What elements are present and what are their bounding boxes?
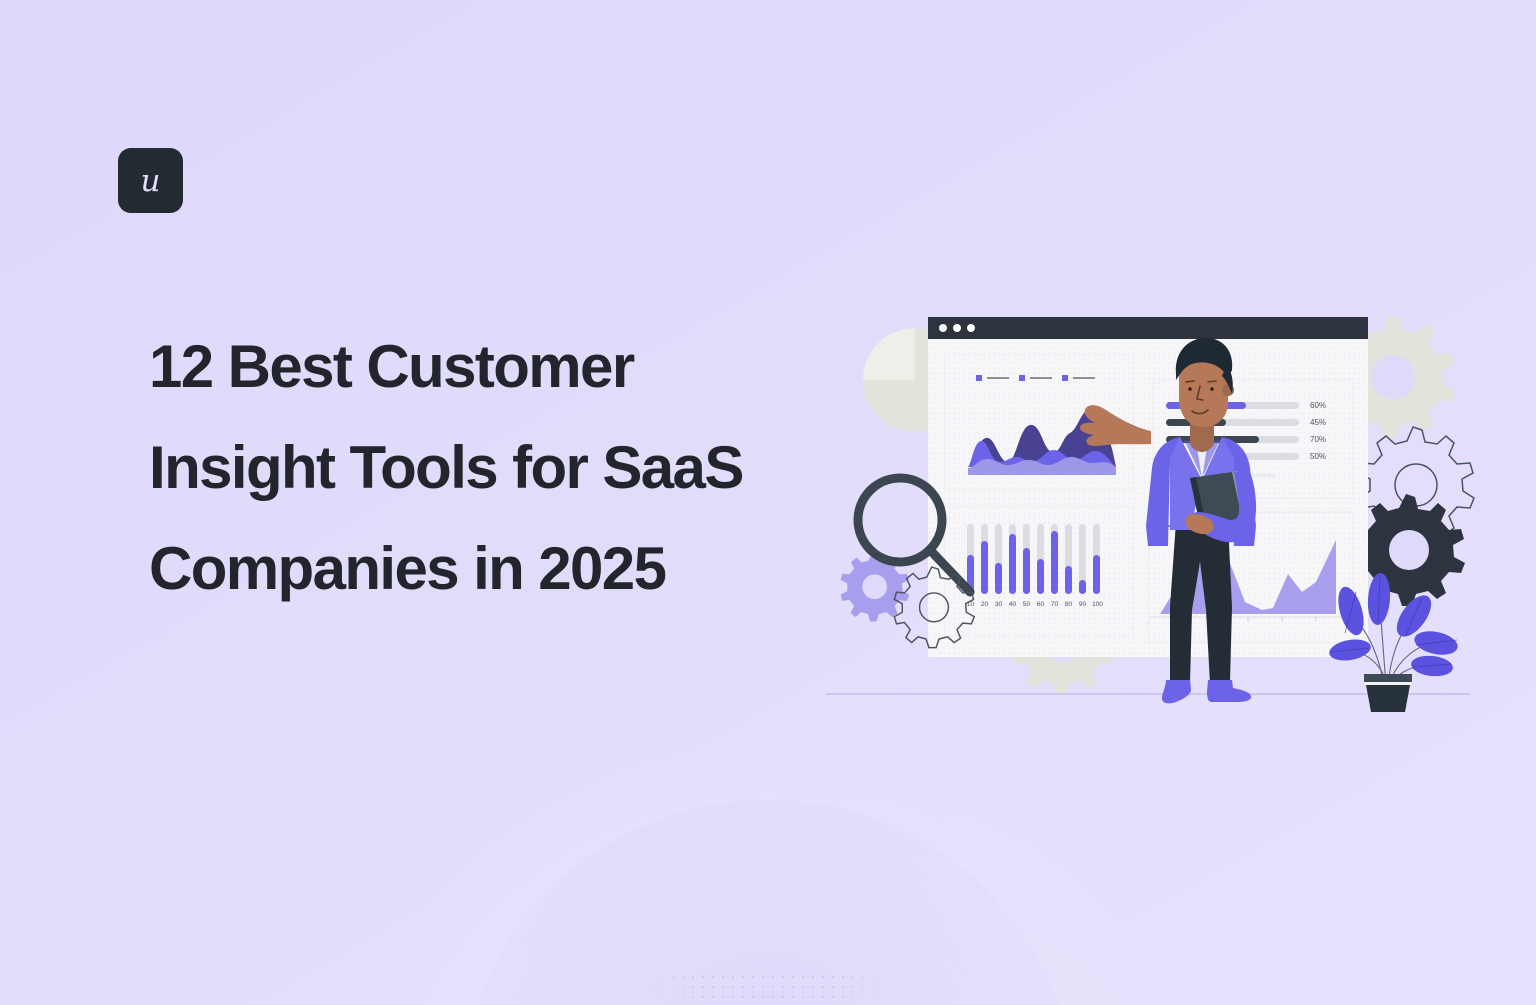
userpilot-logo[interactable]: u [118, 148, 183, 213]
analytics-presentation-illustration: 60% 45% 70% 50% [818, 262, 1478, 712]
svg-text:70: 70 [1051, 601, 1059, 608]
svg-text:20: 20 [981, 601, 989, 608]
shoe-right [1207, 680, 1251, 702]
progress-label-2: 45% [1310, 418, 1326, 427]
progress-label-1: 60% [1310, 401, 1326, 410]
pot-body [1366, 685, 1410, 712]
logo-letter-u: u [141, 166, 161, 197]
progress-label-3: 70% [1310, 435, 1326, 444]
browser-window: 60% 45% 70% 50% [928, 317, 1368, 657]
svg-text:100: 100 [1092, 601, 1103, 608]
svg-text:40: 40 [1009, 601, 1017, 608]
background-dot-texture [648, 972, 888, 1005]
svg-text:30: 30 [995, 601, 1003, 608]
progress-label-4: 50% [1310, 452, 1326, 461]
svg-text:80: 80 [1065, 601, 1073, 608]
window-control-dots [939, 324, 975, 332]
svg-text:90: 90 [1079, 601, 1087, 608]
page-title: 12 Best Customer Insight Tools for SaaS … [149, 316, 789, 619]
svg-text:60: 60 [1037, 601, 1045, 608]
svg-text:50: 50 [1023, 601, 1031, 608]
